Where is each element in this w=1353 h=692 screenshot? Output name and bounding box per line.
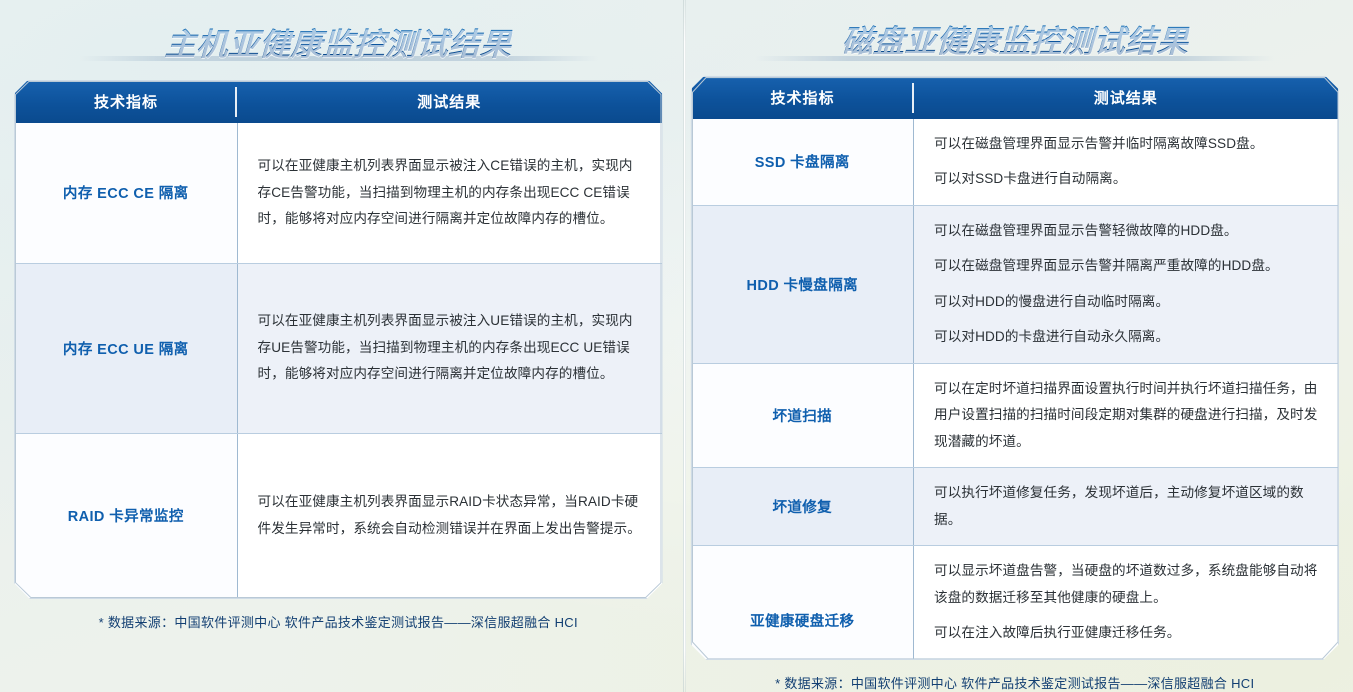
metric-cell: 亚健康硬盘迁移	[692, 546, 914, 660]
table-row: 坏道修复 可以执行坏道修复任务，发现坏道后，主动修复坏道区域的数据。	[692, 468, 1339, 546]
result-line: 可以对HDD的慢盘进行自动临时隔离。	[934, 289, 1320, 316]
result-cell: 可以执行坏道修复任务，发现坏道后，主动修复坏道区域的数据。	[914, 468, 1339, 546]
column-header-result: 测试结果	[914, 77, 1339, 119]
panel-title-block: 磁盘亚健康监控测试结果	[691, 2, 1340, 76]
table-row: HDD 卡慢盘隔离 可以在磁盘管理界面显示告警轻微故障的HDD盘。 可以在磁盘管…	[692, 205, 1339, 363]
metric-cell: 内存 ECC UE 隔离	[15, 263, 237, 433]
results-table: 技术指标 测试结果 内存 ECC CE 隔离 可以在亚健康主机列表界面显示被注入…	[15, 81, 662, 598]
panel-title-block: 主机亚健康监控测试结果	[14, 2, 663, 80]
table-body: 内存 ECC CE 隔离 可以在亚健康主机列表界面显示被注入CE错误的主机，实现…	[15, 123, 662, 598]
result-line: 可以在定时坏道扫描界面设置执行时间并执行坏道扫描任务，由用户设置扫描的扫描时间段…	[934, 376, 1320, 456]
result-line: 可以在磁盘管理界面显示告警轻微故障的HDD盘。	[934, 218, 1320, 245]
result-cell: 可以在定时坏道扫描界面设置执行时间并执行坏道扫描任务，由用户设置扫描的扫描时间段…	[914, 363, 1339, 468]
result-cell: 可以在亚健康主机列表界面显示被注入CE错误的主机，实现内存CE告警功能，当扫描到…	[237, 123, 662, 263]
panel-divider	[683, 0, 686, 692]
table-row: 坏道扫描 可以在定时坏道扫描界面设置执行时间并执行坏道扫描任务，由用户设置扫描的…	[692, 363, 1339, 468]
footnote: * 数据来源：中国软件评测中心 软件产品技术鉴定测试报告——深信服超融合 HCI	[14, 599, 663, 631]
table-row: 内存 ECC UE 隔离 可以在亚健康主机列表界面显示被注入UE错误的主机，实现…	[15, 263, 662, 433]
table-body: SSD 卡盘隔离 可以在磁盘管理界面显示告警并临时隔离故障SSD盘。 可以对SS…	[692, 119, 1339, 660]
result-line: 可以在磁盘管理界面显示告警并隔离严重故障的HDD盘。	[934, 253, 1320, 280]
metric-cell: RAID 卡异常监控	[15, 433, 237, 598]
result-cell: 可以显示坏道盘告警，当硬盘的坏道数过多，系统盘能够自动将该盘的数据迁移至其他健康…	[914, 546, 1339, 660]
result-line: 可以在注入故障后执行亚健康迁移任务。	[934, 620, 1320, 647]
column-header-metric: 技术指标	[692, 77, 914, 119]
metric-cell: SSD 卡盘隔离	[692, 119, 914, 206]
result-cell: 可以在亚健康主机列表界面显示RAID卡状态异常，当RAID卡硬件发生异常时，系统…	[237, 433, 662, 598]
results-table-card: 技术指标 测试结果 SSD 卡盘隔离 可以在磁盘管理界面显示告警并临时隔离故障S…	[691, 76, 1340, 660]
table-header-row: 技术指标 测试结果	[692, 77, 1339, 119]
result-line: 可以在清除故障后取消亚健康迁移任务。	[934, 656, 1320, 660]
result-cell: 可以在亚健康主机列表界面显示被注入UE错误的主机，实现内存UE告警功能，当扫描到…	[237, 263, 662, 433]
result-line: 可以执行坏道修复任务，发现坏道后，主动修复坏道区域的数据。	[934, 480, 1320, 533]
slide-canvas: 主机亚健康监控测试结果 技术指标 测试结果 内存 ECC CE 隔离 可以在亚健…	[0, 0, 1353, 692]
result-line: 可以对HDD的卡盘进行自动永久隔离。	[934, 324, 1320, 351]
footnote: * 数据来源：中国软件评测中心 软件产品技术鉴定测试报告——深信服超融合 HCI	[691, 660, 1340, 692]
bottom-spacer	[14, 631, 663, 692]
page-title: 主机亚健康监控测试结果	[164, 19, 512, 64]
metric-cell: 坏道修复	[692, 468, 914, 546]
table-row: RAID 卡异常监控 可以在亚健康主机列表界面显示RAID卡状态异常，当RAID…	[15, 433, 662, 598]
column-header-result: 测试结果	[237, 81, 662, 123]
metric-cell: 内存 ECC CE 隔离	[15, 123, 237, 263]
result-line: 可以对SSD卡盘进行自动隔离。	[934, 166, 1320, 193]
table-head: 技术指标 测试结果	[15, 81, 662, 123]
result-cell: 可以在磁盘管理界面显示告警并临时隔离故障SSD盘。 可以对SSD卡盘进行自动隔离…	[914, 119, 1339, 206]
result-line: 可以在亚健康主机列表界面显示被注入UE错误的主机，实现内存UE告警功能，当扫描到…	[258, 308, 644, 388]
results-table-card: 技术指标 测试结果 内存 ECC CE 隔离 可以在亚健康主机列表界面显示被注入…	[14, 80, 663, 599]
panel-disk-subhealth: 磁盘亚健康监控测试结果 技术指标 测试结果 SSD 卡盘隔离 可以在磁盘管理界面…	[677, 0, 1353, 692]
table-row: SSD 卡盘隔离 可以在磁盘管理界面显示告警并临时隔离故障SSD盘。 可以对SS…	[692, 119, 1339, 206]
result-line: 可以在亚健康主机列表界面显示被注入CE错误的主机，实现内存CE告警功能，当扫描到…	[258, 153, 644, 233]
table-row: 亚健康硬盘迁移 可以显示坏道盘告警，当硬盘的坏道数过多，系统盘能够自动将该盘的数…	[692, 546, 1339, 660]
result-line: 可以在磁盘管理界面显示告警并临时隔离故障SSD盘。	[934, 131, 1320, 158]
metric-cell: HDD 卡慢盘隔离	[692, 205, 914, 363]
result-cell: 可以在磁盘管理界面显示告警轻微故障的HDD盘。 可以在磁盘管理界面显示告警并隔离…	[914, 205, 1339, 363]
page-title: 磁盘亚健康监控测试结果	[841, 16, 1189, 61]
result-line: 可以在亚健康主机列表界面显示RAID卡状态异常，当RAID卡硬件发生异常时，系统…	[258, 489, 644, 542]
column-header-metric: 技术指标	[15, 81, 237, 123]
panel-host-subhealth: 主机亚健康监控测试结果 技术指标 测试结果 内存 ECC CE 隔离 可以在亚健…	[0, 0, 677, 692]
result-line: 可以显示坏道盘告警，当硬盘的坏道数过多，系统盘能够自动将该盘的数据迁移至其他健康…	[934, 558, 1320, 611]
table-head: 技术指标 测试结果	[692, 77, 1339, 119]
results-table: 技术指标 测试结果 SSD 卡盘隔离 可以在磁盘管理界面显示告警并临时隔离故障S…	[692, 77, 1339, 660]
table-row: 内存 ECC CE 隔离 可以在亚健康主机列表界面显示被注入CE错误的主机，实现…	[15, 123, 662, 263]
metric-cell: 坏道扫描	[692, 363, 914, 468]
table-header-row: 技术指标 测试结果	[15, 81, 662, 123]
